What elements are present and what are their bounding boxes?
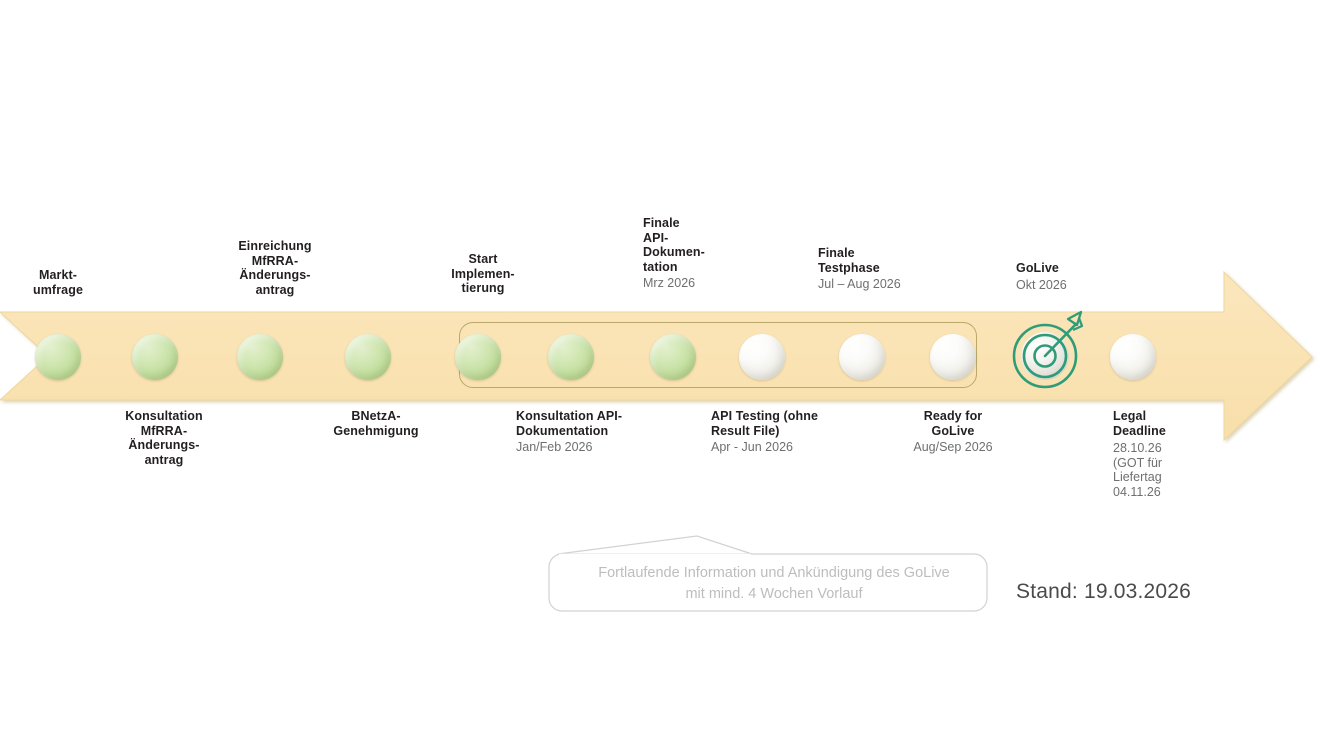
milestone-label-7: Finale API- Dokumen- tation Mrz 2026 [643, 216, 763, 291]
milestone-node-3[interactable] [237, 334, 283, 380]
milestone-label-8: API Testing (ohne Result File) Apr - Jun… [711, 409, 861, 455]
milestone-label-9: Finale Testphase Jul – Aug 2026 [818, 246, 958, 292]
status-date-label: Stand: 19.03.2026 [1016, 580, 1191, 604]
milestone-node-12[interactable] [1110, 334, 1156, 380]
milestone-label-4: BNetzA- Genehmigung [312, 409, 440, 438]
milestone-group-bracket [459, 322, 977, 388]
milestone-node-5[interactable] [455, 334, 501, 380]
milestone-node-10[interactable] [930, 334, 976, 380]
milestone-label-11: GoLive Okt 2026 [1016, 261, 1136, 292]
milestone-node-7[interactable] [650, 334, 696, 380]
callout-line-2: mit mind. 4 Wochen Vorlauf [560, 584, 988, 605]
milestone-label-10: Ready for GoLive Aug/Sep 2026 [895, 409, 1011, 455]
callout-tail [558, 536, 752, 554]
target-bullseye-arrow-icon [1002, 306, 1092, 392]
golive-milestone-node[interactable] [1002, 306, 1092, 392]
milestone-node-9[interactable] [839, 334, 885, 380]
milestone-node-6[interactable] [548, 334, 594, 380]
roadmap-diagram: Markt- umfrage Einreichung MfRRA- Änderu… [0, 0, 1320, 742]
milestone-node-2[interactable] [132, 334, 178, 380]
milestone-label-1: Markt- umfrage [8, 268, 108, 297]
milestone-node-8[interactable] [739, 334, 785, 380]
callout-line-1: Fortlaufende Information und Ankündigung… [560, 563, 988, 584]
milestone-node-4[interactable] [345, 334, 391, 380]
milestone-label-6: Konsultation API- Dokumentation Jan/Feb … [516, 409, 662, 455]
milestone-label-2: Konsultation MfRRA- Änderungs- antrag [98, 409, 230, 467]
callout-text-block: Fortlaufende Information und Ankündigung… [560, 563, 988, 605]
milestone-node-1[interactable] [35, 334, 81, 380]
milestone-label-3: Einreichung MfRRA- Änderungs- antrag [205, 239, 345, 297]
milestone-label-12: Legal Deadline 28.10.26 (GOT für Liefert… [1113, 409, 1205, 500]
milestone-label-5: Start Implemen- tierung [428, 252, 538, 296]
